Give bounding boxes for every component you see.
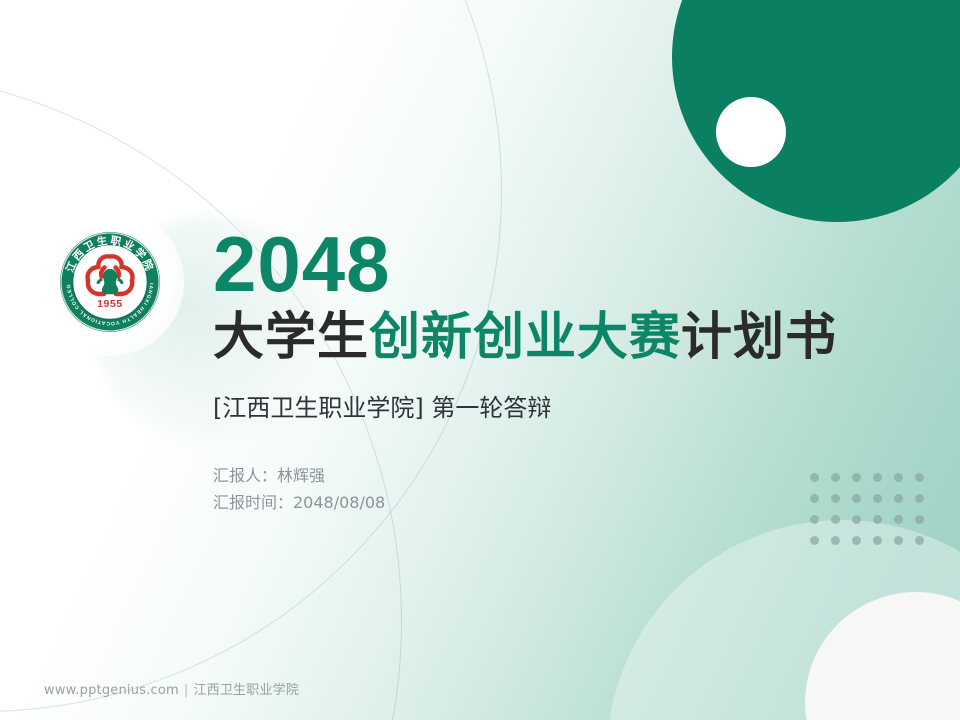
footer-org: 江西卫生职业学院 [193, 683, 299, 698]
grid-dot [873, 515, 882, 524]
decorative-white-bubble [716, 97, 786, 167]
page-title: 大学生创新创业大赛计划书 [213, 308, 913, 368]
grid-dot [894, 536, 903, 545]
date-line: 汇报时间：2048/08/08 [213, 489, 913, 516]
svg-text:1955: 1955 [97, 298, 123, 310]
grid-dot [915, 536, 924, 545]
title-part-2-accent: 创新创业大赛 [369, 308, 681, 367]
grid-dot [852, 536, 861, 545]
grid-dot [915, 473, 924, 482]
grid-dot [852, 515, 861, 524]
footer-site: www.pptgenius.com [44, 683, 179, 698]
presentation-meta: 汇报人：林辉强 汇报时间：2048/08/08 [213, 462, 913, 516]
footer-separator: | [184, 683, 189, 698]
title-part-1: 大学生 [213, 308, 369, 367]
grid-dot [810, 536, 819, 545]
decorative-green-circle [672, 0, 960, 222]
grid-dot [831, 536, 840, 545]
grid-dot [810, 515, 819, 524]
grid-dot [831, 515, 840, 524]
presentation-slide: 江西卫生职业学院 JIANGXI HEALTH VOCATIONAL COLLE… [0, 0, 960, 720]
subtitle: [江西卫生职业学院] 第一轮答辩 [213, 392, 913, 424]
title-block: 2048 大学生创新创业大赛计划书 [江西卫生职业学院] 第一轮答辩 汇报人：林… [213, 222, 913, 516]
grid-dot [894, 515, 903, 524]
grid-dot [873, 536, 882, 545]
year-heading: 2048 [213, 222, 913, 306]
presenter-line: 汇报人：林辉强 [213, 462, 913, 489]
grid-dot [915, 515, 924, 524]
college-logo: 江西卫生职业学院 JIANGXI HEALTH VOCATIONAL COLLE… [56, 228, 164, 336]
title-part-3: 计划书 [681, 308, 837, 367]
grid-dot [915, 494, 924, 503]
footer: www.pptgenius.com|江西卫生职业学院 [44, 679, 299, 698]
